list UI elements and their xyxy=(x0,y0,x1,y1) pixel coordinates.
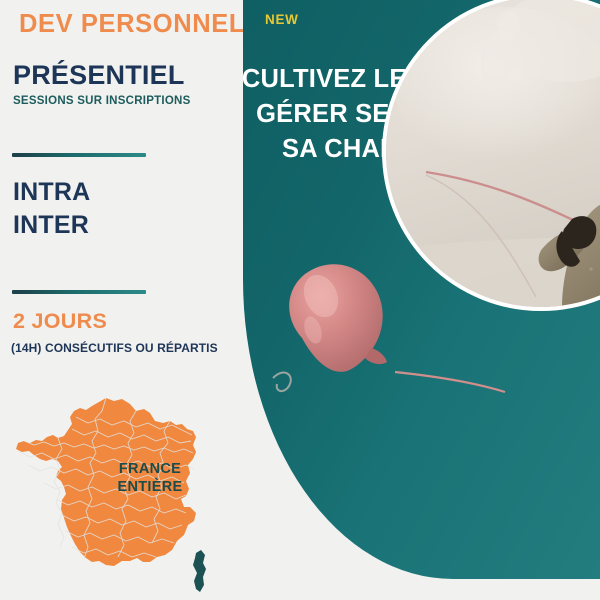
category-kicker: DEV PERSONNEL xyxy=(19,10,245,39)
duration-label: 2 JOURS xyxy=(13,309,107,334)
training-course-poster: DEV PERSONNEL PRÉSENTIEL SESSIONS SUR IN… xyxy=(0,0,600,600)
right-hero-panel: NEW CULTIVEZ LE LÂCHER PRISE GÉRER SES É… xyxy=(243,0,600,579)
hero-photo-image xyxy=(386,0,600,307)
duration-detail-label: (14H) CONSÉCUTIFS OU RÉPARTIS xyxy=(11,341,218,355)
mode-inter-label: INTER xyxy=(13,211,89,240)
divider-rule-bottom xyxy=(12,290,146,294)
france-map-icon xyxy=(0,395,243,600)
hero-photo-circle xyxy=(382,0,600,311)
mode-intra-label: INTRA xyxy=(13,178,90,207)
format-title: PRÉSENTIEL xyxy=(13,60,185,91)
divider-rule-top xyxy=(12,153,146,157)
format-subtitle: SESSIONS SUR INSCRIPTIONS xyxy=(13,95,191,107)
new-badge: NEW xyxy=(265,12,299,27)
left-info-panel: DEV PERSONNEL PRÉSENTIEL SESSIONS SUR IN… xyxy=(0,0,243,600)
